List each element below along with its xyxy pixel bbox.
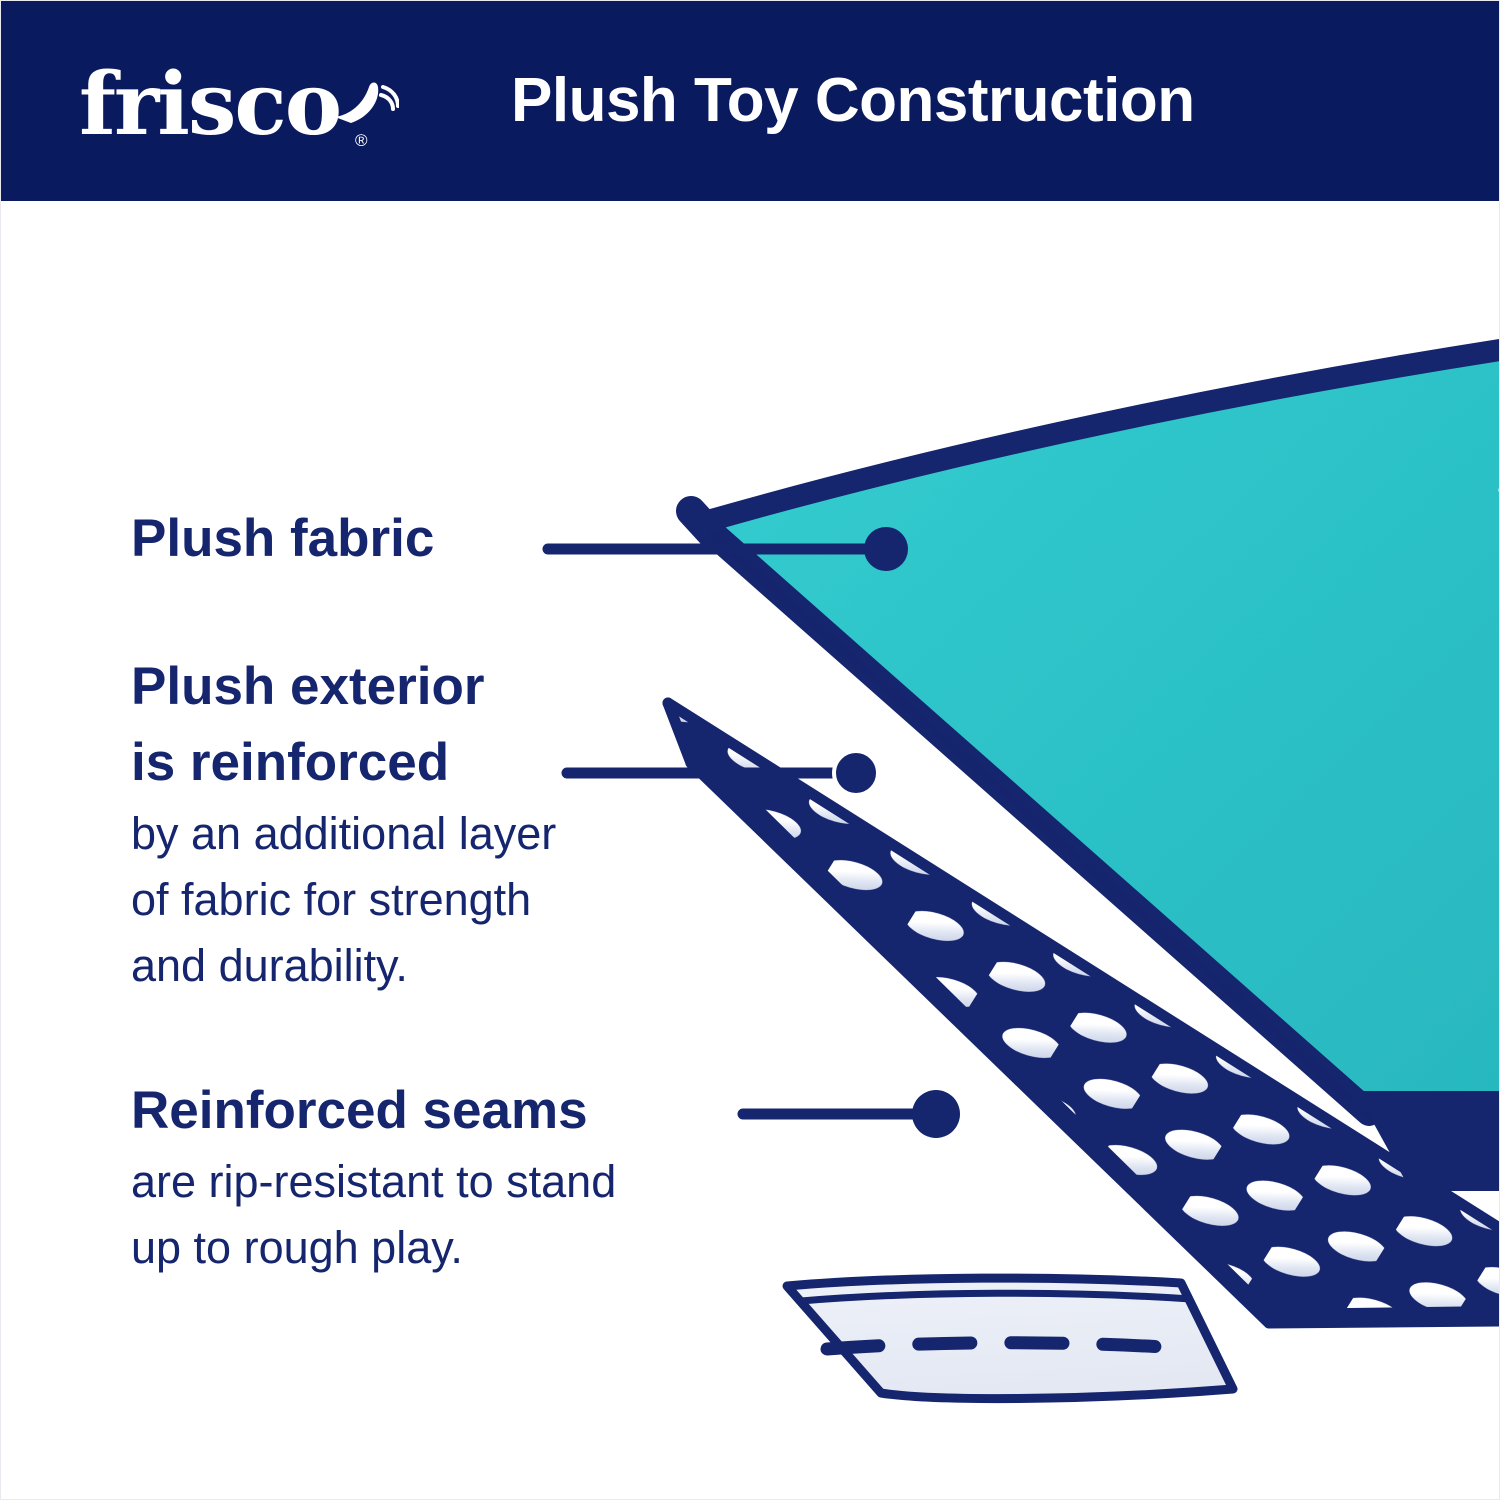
infographic-page: frisco ® Plush Toy Construction xyxy=(0,0,1500,1500)
annotation-body-line-2: of fabric for strength xyxy=(131,867,556,933)
frisco-logo: frisco ® xyxy=(79,53,399,157)
annotation-plush-exterior: Plush exterior is reinforced by an addit… xyxy=(131,649,556,999)
annotation-heading: Plush fabric xyxy=(131,501,434,577)
page-title: Plush Toy Construction xyxy=(511,59,1195,143)
reinforced-seam-flap xyxy=(787,1278,1233,1399)
annotation-heading: Reinforced seams xyxy=(131,1073,616,1149)
callout-dot-reinforced-seams xyxy=(912,1090,960,1138)
annotation-body-line-1: by an additional layer xyxy=(131,801,556,867)
annotation-body-line-2: up to rough play. xyxy=(131,1215,616,1281)
registered-trademark-icon: ® xyxy=(355,131,368,151)
annotation-heading-line-2: is reinforced xyxy=(131,725,556,801)
callout-dot-plush-exterior xyxy=(834,751,878,795)
annotation-reinforced-seams: Reinforced seams are rip-resistant to st… xyxy=(131,1073,616,1281)
annotation-heading-line-1: Plush exterior xyxy=(131,649,556,725)
annotation-plush-fabric: Plush fabric xyxy=(131,501,434,577)
annotation-body-line-3: and durability. xyxy=(131,933,556,999)
callout-dot-plush-fabric xyxy=(864,527,908,571)
annotation-body-line-1: are rip-resistant to stand xyxy=(131,1149,616,1215)
header-band: frisco ® Plush Toy Construction xyxy=(1,1,1500,201)
brand-wordmark: frisco xyxy=(79,53,340,157)
